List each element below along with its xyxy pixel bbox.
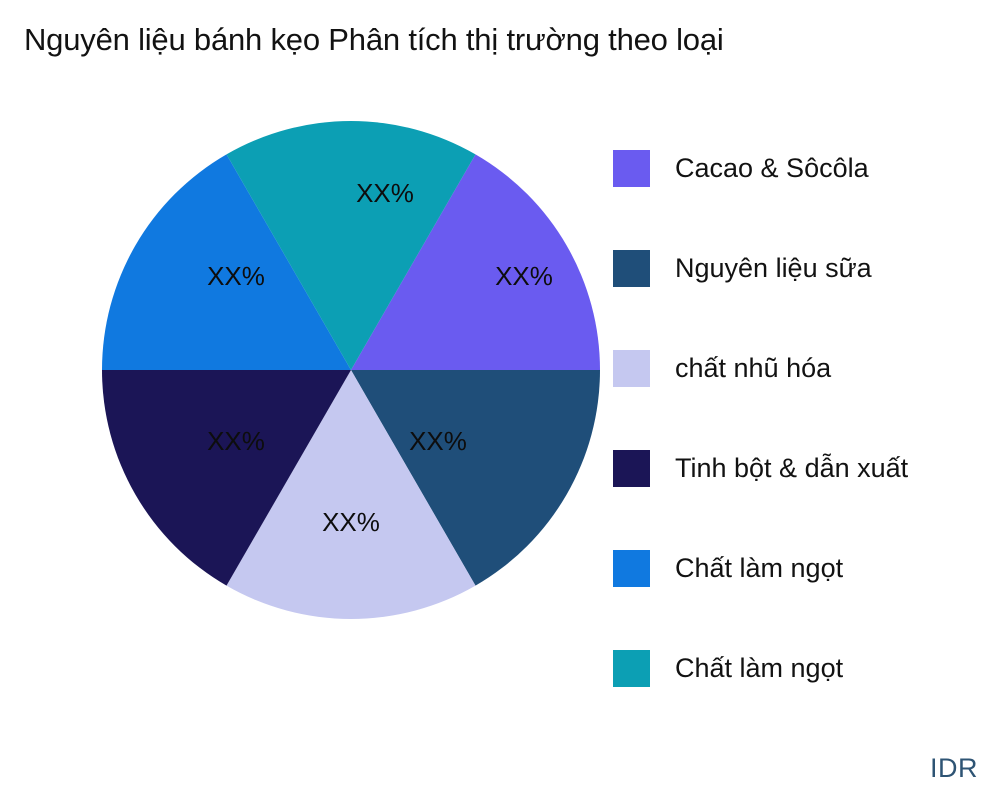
legend-item[interactable]: Nguyên liệu sữa [613,218,993,318]
pie-slice-label: XX% [207,261,265,291]
legend-color-swatch [613,150,650,187]
legend-item[interactable]: chất nhũ hóa [613,318,993,418]
legend-item[interactable]: Chất làm ngọt [613,618,993,718]
legend-color-swatch [613,250,650,287]
pie-chart-svg: XX%XX%XX%XX%XX%XX% [102,121,600,619]
legend-item-label: Chất làm ngọt [675,655,843,682]
legend-item-label: chất nhũ hóa [675,355,831,382]
legend-item-label: Tinh bột & dẫn xuất [675,455,908,482]
legend-item-label: Cacao & Sôcôla [675,155,869,182]
pie-slice-label: XX% [356,178,414,208]
pie-slice-label: XX% [322,507,380,537]
pie-slice-label: XX% [409,426,467,456]
legend-color-swatch [613,350,650,387]
legend-item[interactable]: Chất làm ngọt [613,518,993,618]
legend-color-swatch [613,550,650,587]
legend-item-label: Nguyên liệu sữa [675,255,872,282]
legend-item[interactable]: Cacao & Sôcôla [613,118,993,218]
chart-legend: Cacao & SôcôlaNguyên liệu sữachất nhũ hó… [613,118,993,718]
pie-chart: XX%XX%XX%XX%XX%XX% [102,121,600,619]
legend-color-swatch [613,650,650,687]
watermark-idr: IDR [930,753,978,784]
page-title: Nguyên liệu bánh kẹo Phân tích thị trườn… [24,22,724,58]
pie-slice-label: XX% [495,261,553,291]
legend-color-swatch [613,450,650,487]
pie-slice-group [102,121,600,619]
pie-slice-label: XX% [207,426,265,456]
legend-item-label: Chất làm ngọt [675,555,843,582]
legend-item[interactable]: Tinh bột & dẫn xuất [613,418,993,518]
